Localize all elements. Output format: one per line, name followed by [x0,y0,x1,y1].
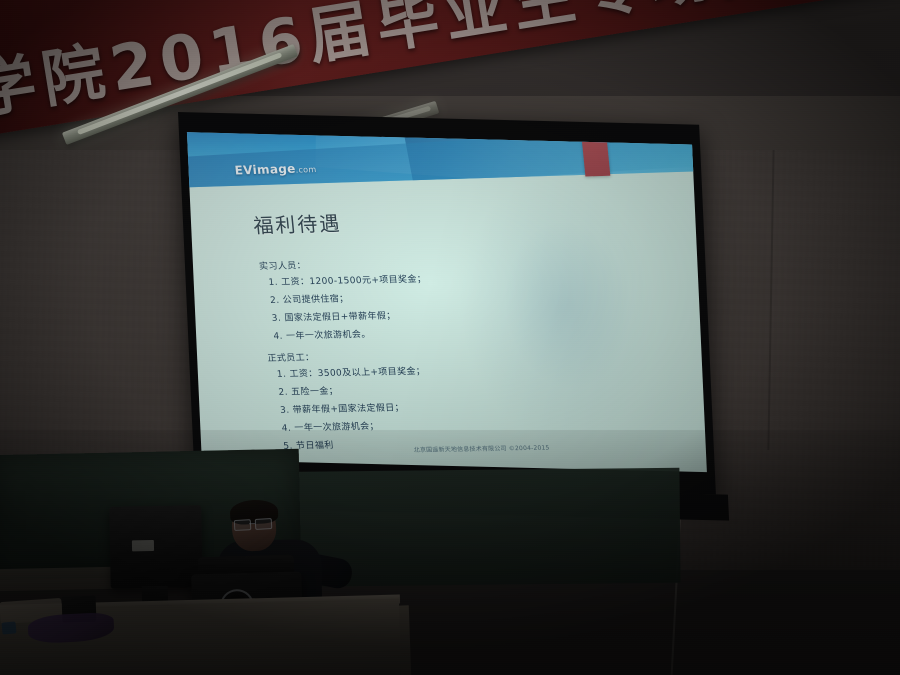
presentation-slide: EVimage.com 福利待遇 实习人员： 1. 工资：1200-1500元+… [187,132,707,472]
list-item: 2. 五险一金； [278,378,599,398]
list-item: 4. 一年一次旅游机会； [281,414,602,434]
list-item: 4. 一年一次旅游机会。 [273,322,594,342]
slide-red-accent-tab [581,136,610,177]
logo-domain: .com [295,165,317,175]
blue-object [2,621,17,634]
lecture-hall-photo: 学院2016届毕业生专场招聘 EVimage.com 福利待遇 实习 [0,0,900,675]
list-item: 1. 工资：3500及以上+项目奖金； [276,360,597,380]
glasses-left-lens [234,519,252,531]
computer-monitor [109,505,202,589]
evimage-logo: EVimage.com [234,161,317,178]
slide-body: 实习人员： 1. 工资：1200-1500元+项目奖金； 2. 公司提供住宿； … [256,252,604,457]
glasses-icon [233,518,275,530]
list-item: 3. 带薪年假+国家法定假日； [279,396,600,416]
list-item: 2. 公司提供住宿； [270,286,591,306]
projection-screen: EVimage.com 福利待遇 实习人员： 1. 工资：1200-1500元+… [178,112,716,494]
list-item: 3. 国家法定假日+带薪年假； [271,304,592,324]
monitor-sticker [132,540,154,551]
logo-brand: EVimage [234,162,296,178]
glasses-right-lens [255,518,273,530]
slide-title: 福利待遇 [252,207,343,238]
list-item: 1. 工资：1200-1500元+项目奖金； [268,268,589,288]
